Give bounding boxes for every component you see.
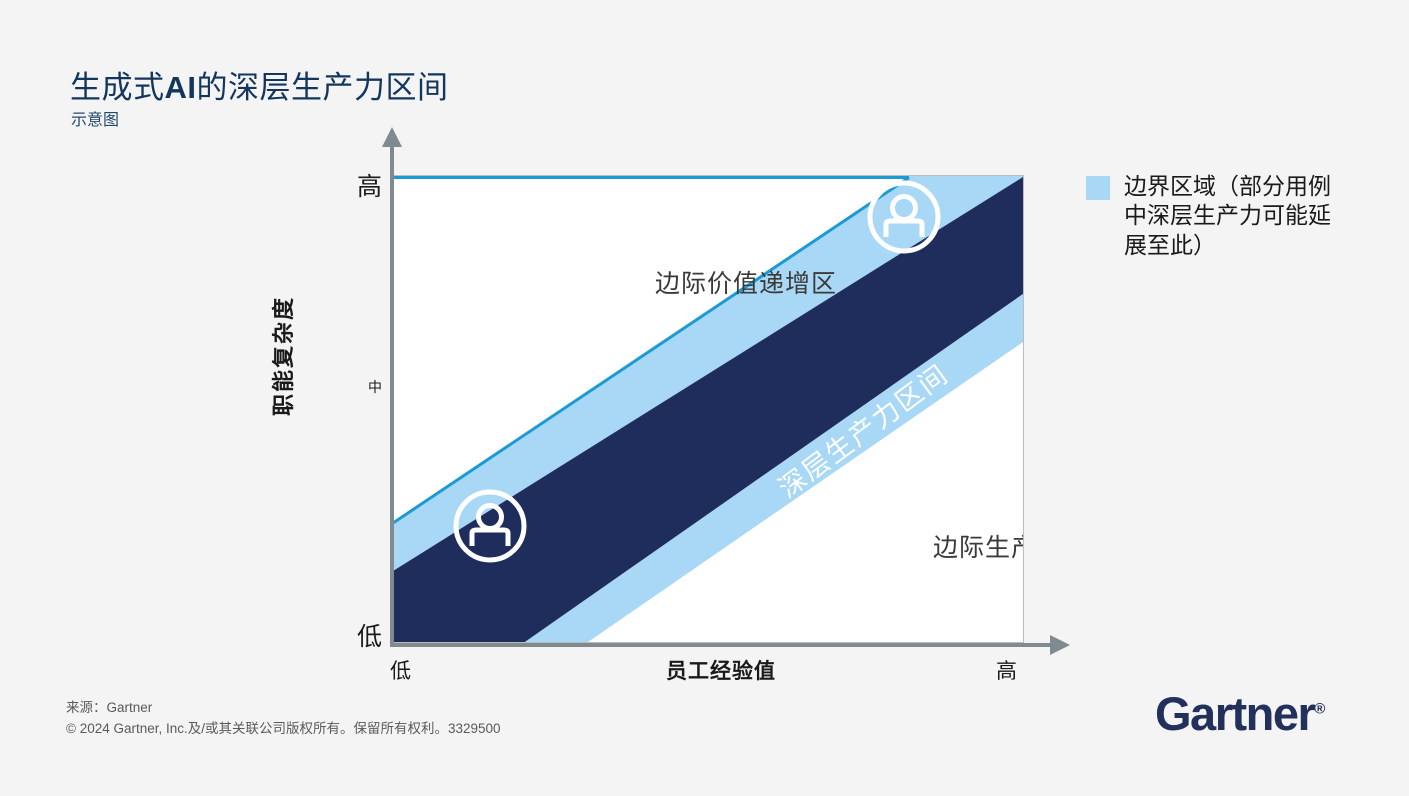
y-axis-line <box>390 145 394 647</box>
footer: 来源：Gartner © 2024 Gartner, Inc.及/或其关联公司版… <box>66 698 501 740</box>
region-label-diminishing-marginal-productivity: 边际生产力递减区 <box>933 528 1024 564</box>
legend-label-boundary-zone: 边界区域（部分用例中深层生产力可能延展至此） <box>1124 172 1346 260</box>
y-tick-mid: 中 <box>322 377 382 397</box>
x-axis-arrow-icon <box>1050 635 1070 655</box>
plot-area: 边际价值递增区 深层生产力区间 边际生产力递减区 <box>392 175 1024 643</box>
footer-copyright: © 2024 Gartner, Inc.及/或其关联公司版权所有。保留所有权利。… <box>66 719 501 740</box>
y-tick-low: 低 <box>322 617 382 653</box>
band-graphic <box>393 176 1023 642</box>
x-axis-title: 员工经验值 <box>390 655 1052 685</box>
region-label-increasing-marginal-value: 边际价值递增区 <box>655 264 837 300</box>
registered-trademark-icon: ® <box>1314 700 1325 717</box>
x-axis-line <box>390 643 1052 647</box>
deep-productivity-band <box>393 177 1023 642</box>
slide-root: 生成式AI的深层生产力区间 示意图 <box>0 0 1409 796</box>
page-title-suffix: 的深层生产力区间 <box>197 70 449 105</box>
footer-source: 来源：Gartner <box>66 698 501 719</box>
gartner-logo-text: Gartner <box>1155 687 1314 740</box>
legend-swatch-boundary-zone <box>1086 176 1110 200</box>
chart-container: 边际价值递增区 深层生产力区间 边际生产力递减区 高 中 低 职能复杂度 低 高… <box>210 125 1080 685</box>
y-axis-arrow-icon <box>382 127 402 147</box>
page-title: 生成式AI的深层生产力区间 <box>70 62 449 107</box>
page-title-prefix: 生成式 <box>70 70 165 105</box>
y-tick-high: 高 <box>322 167 382 203</box>
page-title-latin: AI <box>165 70 197 105</box>
gartner-logo: Gartner® <box>1155 686 1325 741</box>
y-axis-title: 职能复杂度 <box>266 236 298 476</box>
legend: 边界区域（部分用例中深层生产力可能延展至此） <box>1086 172 1346 260</box>
page-subtitle: 示意图 <box>71 106 119 130</box>
